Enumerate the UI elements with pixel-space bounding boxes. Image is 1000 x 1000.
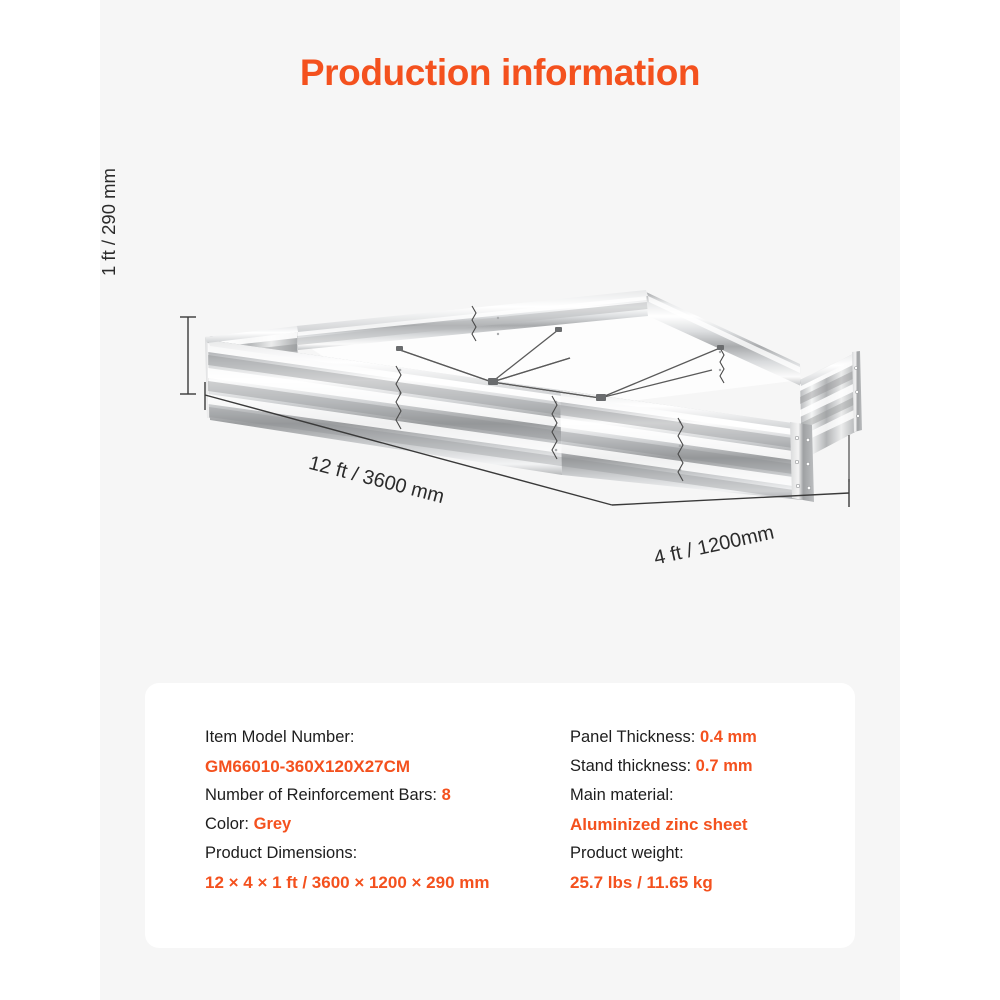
spec-reinforcement-bars: Number of Reinforcement Bars: 8 <box>205 781 530 810</box>
spec-item-model-number-value: GM66010-360X120X27CM <box>205 752 530 781</box>
spec-item-model-number-label: Item Model Number: <box>205 723 530 752</box>
page-title: Production information <box>0 52 1000 94</box>
specs-left-column: Item Model Number: GM66010-360X120X27CM … <box>145 683 530 948</box>
spec-product-dimensions-value: 12 × 4 × 1 ft / 3600 × 1200 × 290 mm <box>205 868 530 897</box>
specs-right-column: Panel Thickness: 0.4 mm Stand thickness:… <box>530 683 855 948</box>
spec-product-weight-label: Product weight: <box>570 839 855 868</box>
spec-product-dimensions-label: Product Dimensions: <box>205 839 530 868</box>
dimension-label-height: 1 ft / 290 mm <box>98 168 120 276</box>
specifications-card: Item Model Number: GM66010-360X120X27CM … <box>145 683 855 948</box>
product-info-page: Production information <box>0 0 1000 1000</box>
corner-bracket-right-front <box>790 422 814 502</box>
front-wall-panel-2 <box>560 390 802 500</box>
spec-panel-thickness: Panel Thickness: 0.4 mm <box>570 723 855 752</box>
spec-main-material-value: Aluminized zinc sheet <box>570 810 855 839</box>
spec-main-material-label: Main material: <box>570 781 855 810</box>
dimension-line-height <box>180 317 196 394</box>
garden-bed-drawing <box>100 230 900 610</box>
spec-color: Color: Grey <box>205 810 530 839</box>
spec-stand-thickness: Stand thickness: 0.7 mm <box>570 752 855 781</box>
spec-product-weight-value: 25.7 lbs / 11.65 kg <box>570 868 855 897</box>
product-illustration: 1 ft / 290 mm 12 ft / 3600 mm 4 ft / 120… <box>100 230 900 610</box>
